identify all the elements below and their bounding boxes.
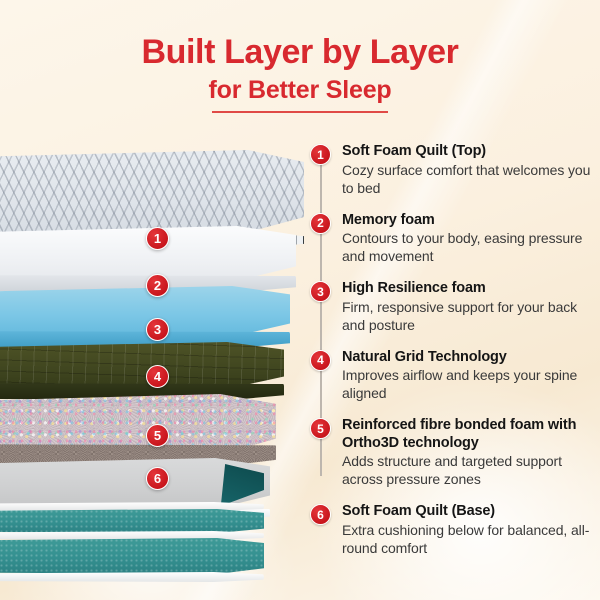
title-line-2: for Better Sleep: [0, 76, 600, 105]
brand-label-patch: kurlon: [72, 583, 159, 600]
list-badge-6: 6: [310, 504, 331, 525]
list-description-3: Firm, responsive support for your back a…: [342, 299, 596, 335]
list-badge-4: 4: [310, 350, 331, 371]
infographic-canvas: Built Layer by Layer for Better Sleep: [0, 0, 600, 600]
list-description-6: Extra cushioning below for balanced, all…: [342, 522, 596, 558]
list-title-1: Soft Foam Quilt (Top): [342, 143, 596, 161]
layer-badge-3: 3: [146, 318, 169, 341]
mattress-layer-4-natural-grid: [0, 342, 284, 400]
list-badge-5: 5: [310, 418, 331, 439]
base-piping-middle: [0, 531, 264, 540]
list-title-6: Soft Foam Quilt (Base): [342, 503, 596, 521]
list-badge-2: 2: [310, 213, 331, 234]
natural-grid-surface: [0, 342, 284, 390]
layer-description-list: 1 Soft Foam Quilt (Top) Cozy surface com…: [310, 143, 596, 572]
quilted-fabric-texture: [0, 150, 304, 236]
layer-badge-1: 1: [146, 227, 169, 250]
list-title-4: Natural Grid Technology: [342, 349, 596, 367]
layer-badge-4: 4: [146, 365, 169, 388]
page-title: Built Layer by Layer for Better Sleep: [0, 34, 600, 113]
list-item-2: 2 Memory foam Contours to your body, eas…: [310, 212, 596, 267]
mattress-layer-3-high-resilience-foam: [0, 286, 290, 348]
list-item-5: 5 Reinforced fibre bonded foam with Orth…: [310, 417, 596, 489]
list-description-5: Adds structure and targeted support acro…: [342, 453, 596, 489]
layer-badge-2: 2: [146, 274, 169, 297]
list-description-1: Cozy surface comfort that welcomes you t…: [342, 162, 596, 198]
list-badge-1: 1: [310, 144, 331, 165]
mattress-layer-5-bonded-fibre-foam: [0, 394, 276, 466]
list-title-2: Memory foam: [342, 212, 596, 230]
mattress-base-unit: kurlon: [0, 502, 264, 600]
base-piping-bottom: [0, 572, 264, 582]
list-item-6: 6 Soft Foam Quilt (Base) Extra cushionin…: [310, 503, 596, 558]
base-fabric-band-upper: [0, 509, 264, 533]
list-title-5: Reinforced fibre bonded foam with Ortho3…: [342, 417, 596, 452]
title-line-1: Built Layer by Layer: [0, 34, 600, 71]
brand-name: kurlon: [97, 589, 132, 600]
mattress-layer-1-quilted-top: [0, 150, 304, 236]
hr-foam-surface: [0, 286, 290, 338]
title-underline: [212, 111, 388, 113]
list-item-1: 1 Soft Foam Quilt (Top) Cozy surface com…: [310, 143, 596, 198]
layer-badge-5: 5: [146, 424, 169, 447]
list-description-4: Improves airflow and keeps your spine al…: [342, 367, 596, 403]
mattress-layers-illustration: kurlon 1 2 3 4 5 6: [0, 150, 324, 570]
layer-badge-6: 6: [146, 467, 169, 490]
list-badge-3: 3: [310, 281, 331, 302]
list-item-4: 4 Natural Grid Technology Improves airfl…: [310, 349, 596, 404]
list-item-3: 3 High Resilience foam Firm, responsive …: [310, 280, 596, 335]
list-description-2: Contours to your body, easing pressure a…: [342, 230, 596, 266]
base-fabric-band-lower: kurlon: [0, 538, 264, 574]
list-title-3: High Resilience foam: [342, 280, 596, 298]
